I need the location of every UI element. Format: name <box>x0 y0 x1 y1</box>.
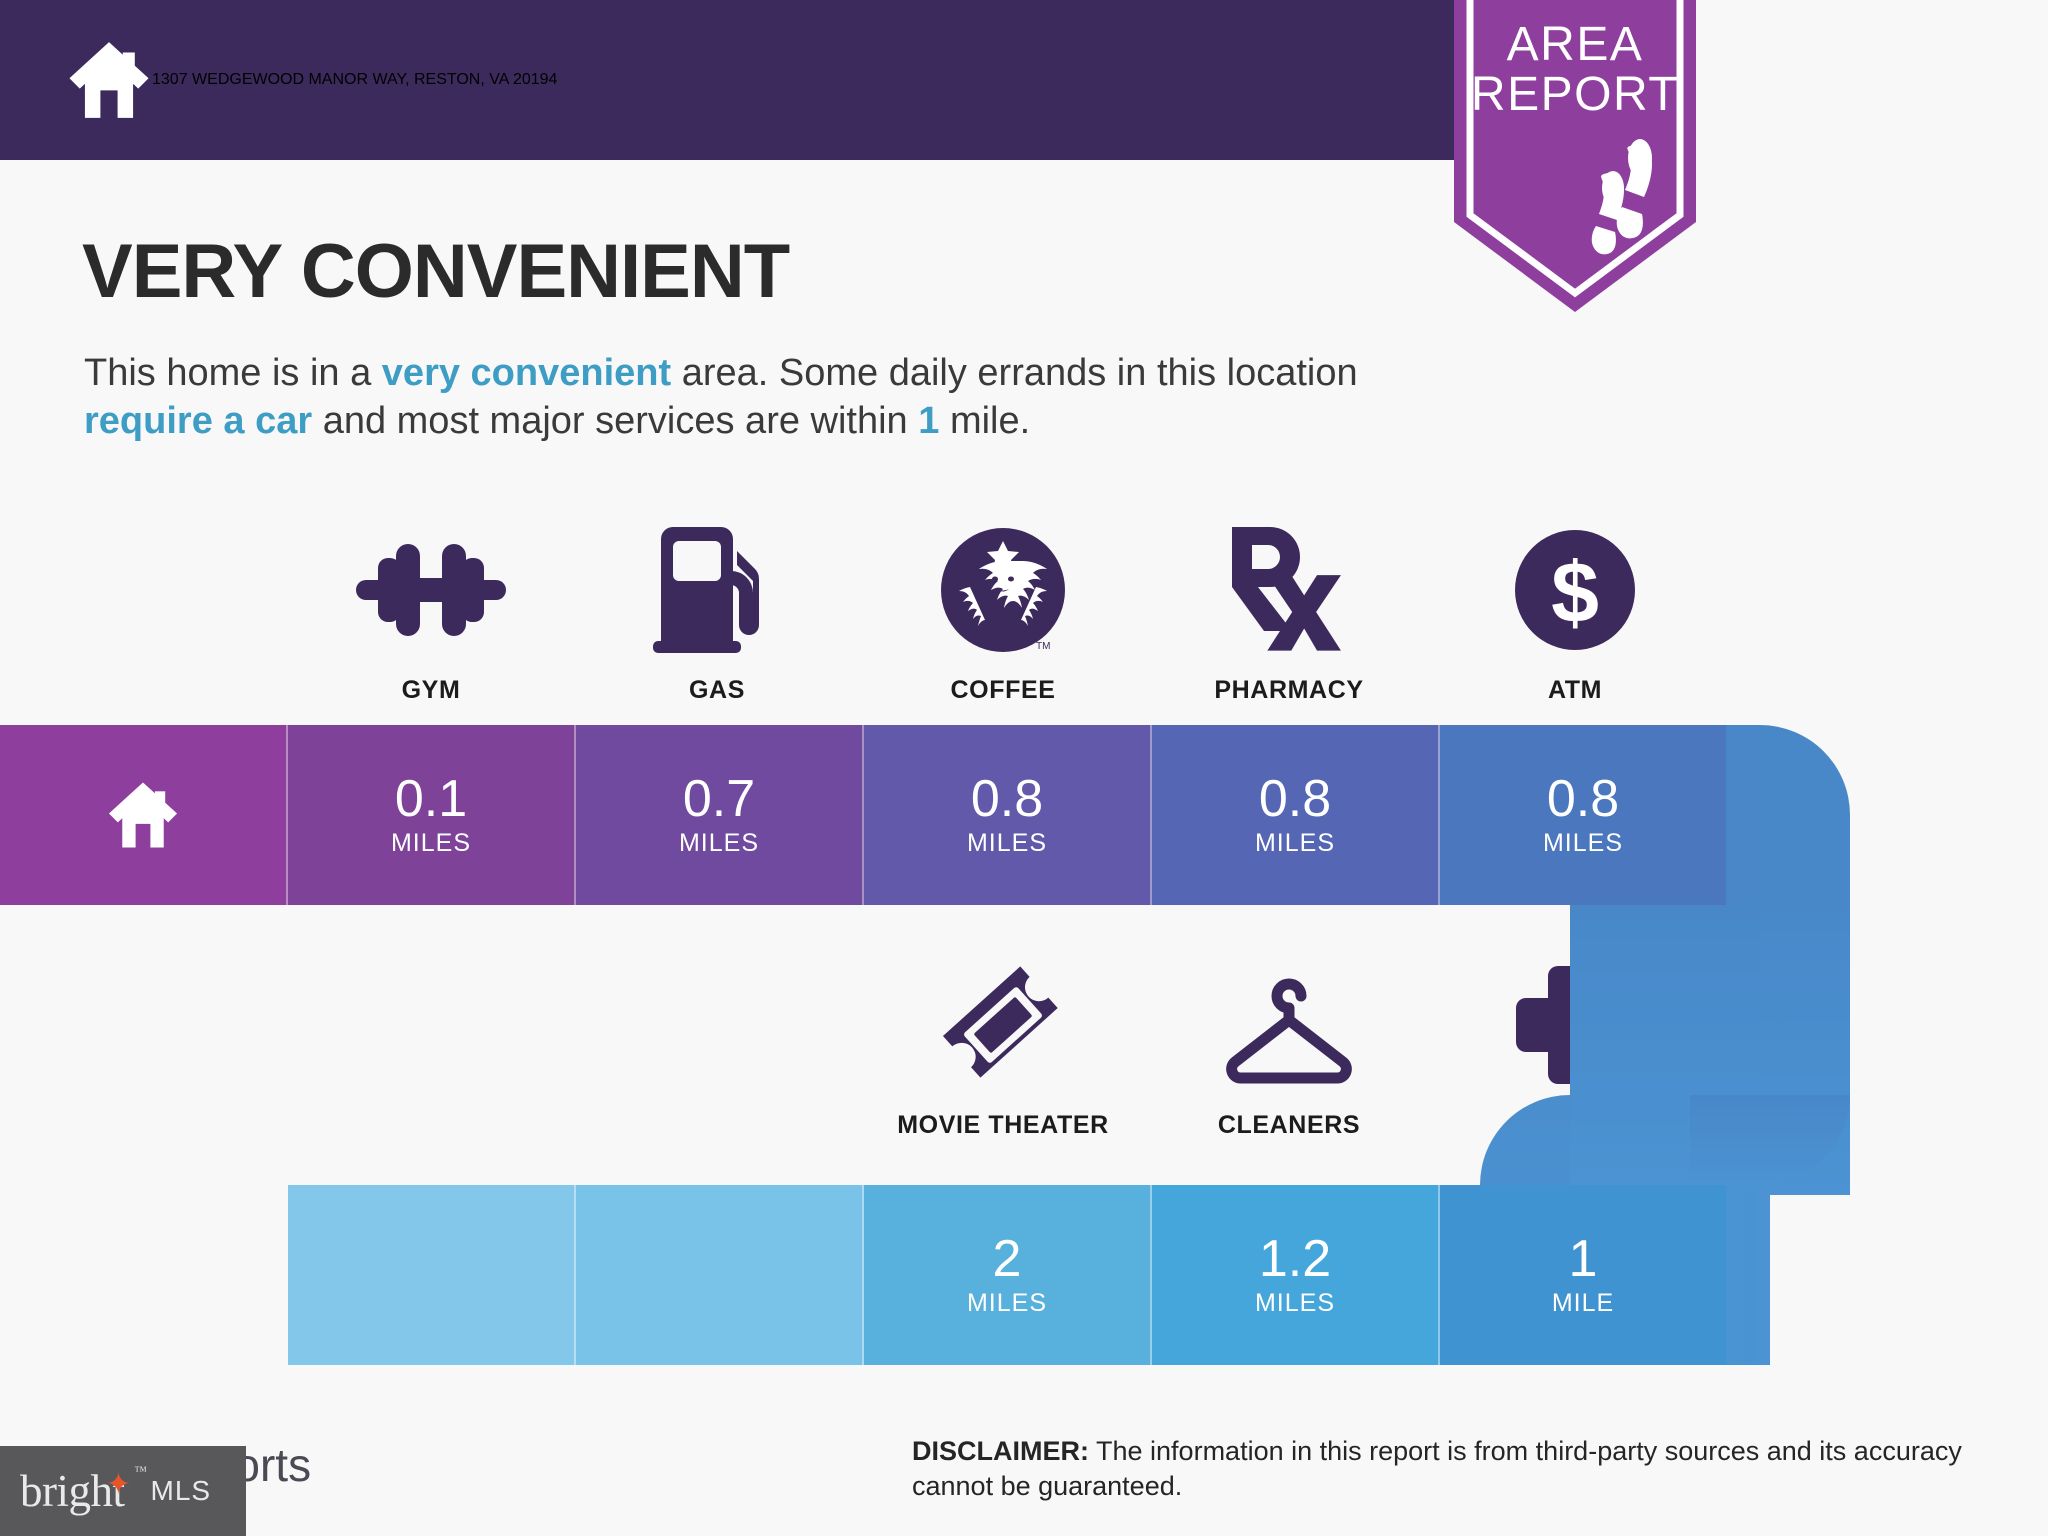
amenity-icon-row-top: GYM GAS <box>288 520 1720 705</box>
summary-part-3: and most major services are within <box>312 400 918 442</box>
headline: VERY CONVENIENT <box>82 228 789 315</box>
dollar-atm-icon: $ <box>1432 520 1718 660</box>
summary-text: This home is in a very convenient area. … <box>84 350 1454 445</box>
logo-tm-mark: ™ <box>134 1463 146 1479</box>
amenity-atm: $ ATM <box>1432 520 1718 705</box>
area-report-page: 1307 WEDGEWOOD MANOR WAY, RESTON, VA 201… <box>0 0 2048 1536</box>
dumbbell-icon <box>288 520 574 660</box>
logo-star-icon: ✦ <box>106 1467 131 1502</box>
distance-ribbon: 0.1 MILES 0.7 MILES 0.8 MILES 0.8 MILES … <box>0 725 2048 1365</box>
amenity-label: PHARMACY <box>1146 676 1432 705</box>
amenity-gas: GAS <box>574 520 860 705</box>
amenity-label: ATM <box>1432 676 1718 705</box>
summary-highlight-1: very convenient <box>382 352 671 394</box>
logo-wordmark: bright ✦ ™ <box>20 1465 125 1517</box>
header-bar: 1307 WEDGEWOOD MANOR WAY, RESTON, VA 201… <box>0 0 1455 160</box>
amenity-pharmacy: PHARMACY <box>1146 520 1432 705</box>
amenity-label: GYM <box>288 676 574 705</box>
svg-text:$: $ <box>1551 545 1599 641</box>
ribbon-bottom-segment <box>378 1185 1770 1365</box>
disclaimer-label: DISCLAIMER: <box>912 1436 1089 1466</box>
summary-part-1: This home is in a <box>84 352 382 394</box>
bright-mls-logo: bright ✦ ™ MLS <box>0 1446 246 1536</box>
summary-highlight-3: 1 <box>918 400 939 442</box>
disclaimer: DISCLAIMER: The information in this repo… <box>912 1434 1972 1503</box>
summary-part-2: area. Some daily errands in this locatio… <box>671 352 1357 394</box>
gas-pump-icon <box>574 520 860 660</box>
summary-part-4: mile. <box>939 400 1030 442</box>
page-title: 1307 WEDGEWOOD MANOR WAY, RESTON, VA 201… <box>152 71 557 89</box>
amenity-label: GAS <box>574 676 860 705</box>
summary-highlight-2: require a car <box>84 400 312 442</box>
ribbon-top-segment <box>0 725 1850 905</box>
logo-mls-text: MLS <box>151 1475 212 1507</box>
home-icon <box>66 37 152 123</box>
area-report-badge: AREA REPORT <box>1454 0 1696 312</box>
amenity-coffee: TM COFFEE <box>860 520 1146 705</box>
svg-text:TM: TM <box>1036 641 1050 652</box>
rx-pharmacy-icon <box>1146 520 1432 660</box>
starbucks-coffee-icon: TM <box>860 520 1146 660</box>
amenity-label: COFFEE <box>860 676 1146 705</box>
amenity-gym: GYM <box>288 520 574 705</box>
